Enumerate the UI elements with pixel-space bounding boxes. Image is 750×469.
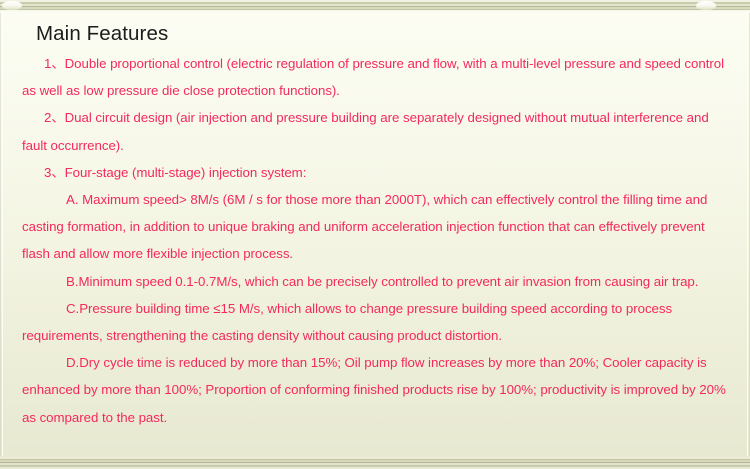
- border-stripe: [0, 9, 750, 10]
- feature-paragraph-1: 1、Double proportional control (electric …: [22, 50, 728, 104]
- page-title: Main Features: [22, 18, 728, 50]
- features-list: 1、Double proportional control (electric …: [22, 50, 728, 431]
- panel-content: Main Features 1、Double proportional cont…: [0, 13, 750, 456]
- top-border-band: [0, 0, 750, 13]
- border-stripe: [0, 2, 750, 4]
- feature-paragraph-3a: A. Maximum speed> 8M/s (6M / s for those…: [22, 186, 728, 268]
- feature-paragraph-3d: D.Dry cycle time is reduced by more than…: [22, 349, 728, 431]
- features-panel: Main Features 1、Double proportional cont…: [0, 0, 750, 469]
- feature-paragraph-3: 3、Four-stage (multi-stage) injection sys…: [22, 159, 728, 186]
- corner-ornament-bottom-left-icon: [4, 459, 24, 468]
- feature-paragraph-3c: C.Pressure building time ≤15 M/s, which …: [22, 295, 728, 349]
- bottom-border-band: [0, 456, 750, 469]
- border-stripe: [0, 465, 750, 467]
- feature-paragraph-3b: B.Minimum speed 0.1-0.7M/s, which can be…: [22, 268, 728, 295]
- corner-ornament-top-left-icon: [2, 1, 22, 10]
- border-stripe: [0, 6, 750, 7]
- border-stripe: [0, 459, 750, 460]
- border-stripe: [0, 0, 750, 2]
- border-stripe: [0, 462, 750, 463]
- border-stripe: [0, 7, 750, 9]
- border-stripe: [0, 456, 750, 459]
- corner-ornament-top-right-icon: [696, 1, 716, 10]
- border-stripe: [0, 463, 750, 465]
- border-stripe: [0, 4, 750, 6]
- feature-paragraph-2: 2、Dual circuit design (air injection and…: [22, 104, 728, 158]
- corner-ornament-bottom-right-icon: [694, 459, 714, 468]
- border-stripe: [0, 460, 750, 462]
